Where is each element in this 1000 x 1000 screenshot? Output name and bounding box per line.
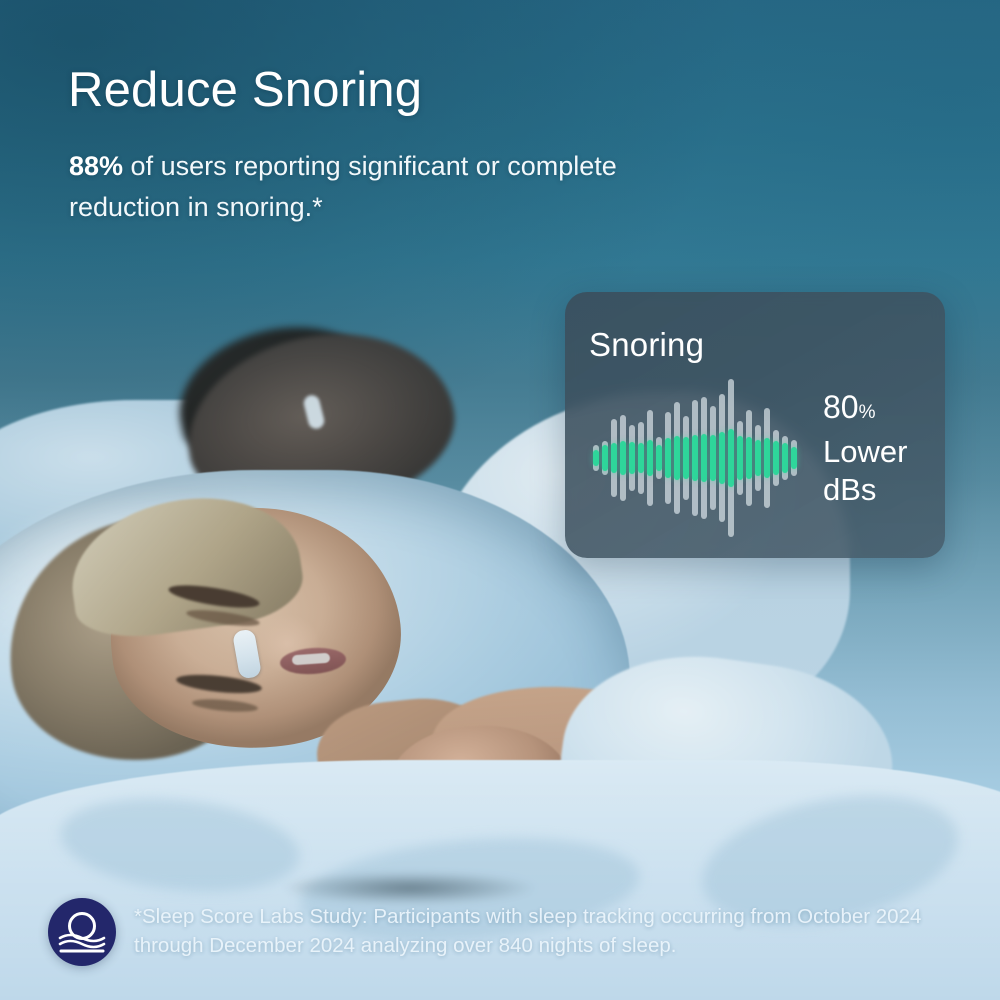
waveform-bar xyxy=(791,440,797,476)
stat-value: 88% xyxy=(69,151,123,181)
waveform-bar xyxy=(764,408,770,508)
waveform-bar xyxy=(773,430,779,486)
snoring-card[interactable]: Snoring 80% Lower dBs xyxy=(565,292,945,558)
waveform-bar-active-segment xyxy=(674,436,680,480)
waveform-bar-active-segment xyxy=(692,435,698,481)
metric-label-line2: dBs xyxy=(823,471,933,509)
waveform-bar-active-segment xyxy=(602,445,608,471)
snoring-metric: 80% Lower dBs xyxy=(823,388,933,509)
waveform-bar xyxy=(647,410,653,506)
waveform-bar-active-segment xyxy=(638,443,644,473)
waveform-bar-active-segment xyxy=(764,438,770,478)
waveform-bar xyxy=(629,425,635,491)
subheadline-text: of users reporting significant or comple… xyxy=(69,151,617,222)
metric-percent-sign: % xyxy=(859,402,876,423)
waveform-bar xyxy=(683,416,689,500)
waveform-bar xyxy=(746,410,752,506)
waveform-bar-active-segment xyxy=(656,445,662,471)
waveform-bar xyxy=(638,422,644,494)
waveform-bar-active-segment xyxy=(665,438,671,478)
waveform-bar xyxy=(710,406,716,510)
waveform-bar xyxy=(755,425,761,491)
footnote: *Sleep Score Labs Study: Participants wi… xyxy=(134,902,964,960)
waveform-bar xyxy=(620,415,626,501)
waveform-bar-active-segment xyxy=(629,442,635,474)
waveform-bar-active-segment xyxy=(719,432,725,484)
waveform-bar-active-segment xyxy=(593,450,599,466)
waveform-bar xyxy=(737,421,743,495)
sleep-score-labs-logo-icon xyxy=(48,898,116,966)
metric-label-line1: Lower xyxy=(823,433,933,471)
waveform-bar-active-segment xyxy=(782,443,788,473)
page-title: Reduce Snoring xyxy=(68,62,422,118)
waveform-bar-active-segment xyxy=(683,437,689,479)
subheadline: 88% of users reporting significant or co… xyxy=(69,146,689,228)
waveform-bar-active-segment xyxy=(710,435,716,481)
waveform-bar xyxy=(593,445,599,471)
waveform-bar-active-segment xyxy=(701,434,707,482)
waveform-bar xyxy=(719,394,725,522)
waveform-bar-active-segment xyxy=(647,440,653,476)
waveform-bar xyxy=(692,400,698,516)
waveform-bar-active-segment xyxy=(791,447,797,469)
waveform-bar xyxy=(611,419,617,497)
promo-image: Reduce Snoring 88% of users reporting si… xyxy=(0,0,1000,1000)
snoring-waveform-chart xyxy=(593,378,813,538)
waveform-bar xyxy=(728,379,734,537)
waveform-bar-active-segment xyxy=(773,441,779,475)
waveform-bar-active-segment xyxy=(620,441,626,475)
waveform-bar xyxy=(656,437,662,479)
card-title: Snoring xyxy=(589,326,704,364)
waveform-bar xyxy=(665,412,671,504)
waveform-bar-active-segment xyxy=(737,436,743,480)
waveform-bar-active-segment xyxy=(755,440,761,476)
waveform-bar xyxy=(701,397,707,519)
waveform-bar-active-segment xyxy=(746,437,752,479)
waveform-bar-active-segment xyxy=(611,443,617,473)
waveform-bar xyxy=(674,402,680,514)
waveform-bar xyxy=(782,436,788,480)
waveform-bar-active-segment xyxy=(728,429,734,487)
waveform-bar xyxy=(602,441,608,475)
metric-number: 80 xyxy=(823,389,859,425)
